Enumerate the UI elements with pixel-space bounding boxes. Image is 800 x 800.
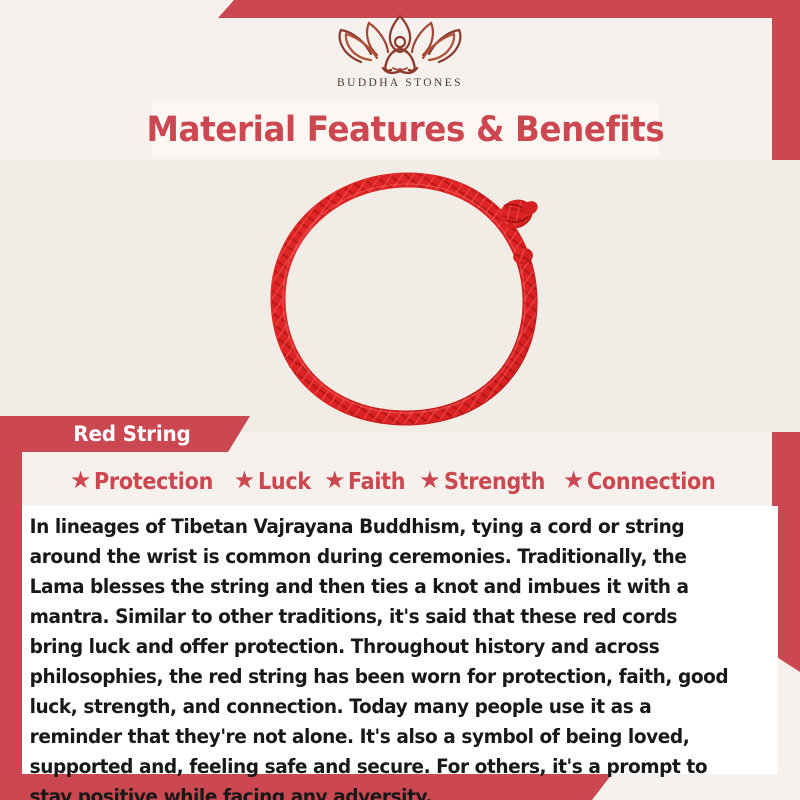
page-title: Material Features & Benefits bbox=[147, 110, 665, 150]
benefit-label: Strength bbox=[444, 469, 545, 495]
lotus-meditation-icon bbox=[331, 10, 469, 76]
benefit-item-faith: ★ Faith bbox=[324, 469, 412, 495]
benefit-item-connection: ★ Connection bbox=[563, 469, 730, 495]
benefit-label: Protection bbox=[94, 469, 213, 495]
benefit-item-strength: ★ Strength bbox=[419, 469, 556, 495]
brand-logo: BUDDHA STONES bbox=[0, 10, 800, 89]
red-braided-string-bracelet-icon bbox=[240, 164, 570, 432]
benefit-label: Luck bbox=[258, 469, 311, 495]
description-panel: In lineages of Tibetan Vajrayana Buddhis… bbox=[22, 506, 778, 774]
benefit-label: Connection bbox=[587, 469, 715, 495]
star-icon: ★ bbox=[70, 469, 92, 493]
star-icon: ★ bbox=[234, 469, 256, 493]
star-icon: ★ bbox=[563, 469, 585, 493]
title-banner: Material Features & Benefits bbox=[152, 103, 659, 157]
brand-name: BUDDHA STONES bbox=[0, 77, 800, 89]
product-label-banner: Red String bbox=[0, 416, 250, 452]
star-icon: ★ bbox=[419, 469, 441, 493]
star-icon: ★ bbox=[324, 469, 346, 493]
infographic-card: BUDDHA STONES Material Features & Benefi… bbox=[0, 0, 800, 800]
header: BUDDHA STONES bbox=[0, 0, 800, 100]
product-photo bbox=[0, 160, 800, 432]
benefit-label: Faith bbox=[348, 469, 405, 495]
benefits-list: ★ Protection ★ Luck ★ Faith ★ Strength ★… bbox=[0, 458, 800, 506]
benefit-item-protection: ★ Protection bbox=[70, 469, 227, 495]
benefit-item-luck: ★ Luck bbox=[234, 469, 317, 495]
description-text: In lineages of Tibetan Vajrayana Buddhis… bbox=[22, 512, 744, 800]
product-label: Red String bbox=[5, 422, 191, 446]
